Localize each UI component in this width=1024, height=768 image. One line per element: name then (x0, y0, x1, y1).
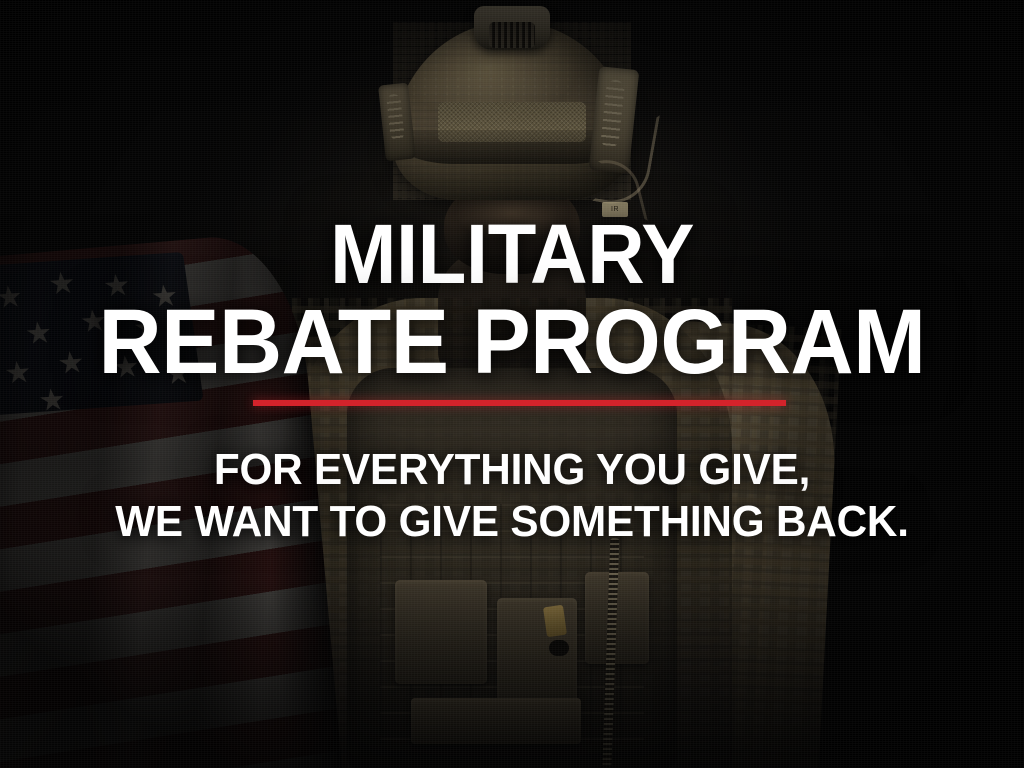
subheadline-line-1: FOR EVERYTHING YOU GIVE, (20, 444, 1003, 495)
text-overlay: MILITARY REBATE PROGRAM FOR EVERYTHING Y… (0, 0, 1024, 768)
red-divider-rule (253, 400, 786, 406)
headline-line-2: REBATE PROGRAM (26, 300, 999, 385)
subheadline-line-2: WE WANT TO GIVE SOMETHING BACK. (20, 496, 1003, 547)
poster-canvas: IR (0, 0, 1024, 768)
headline-line-1: MILITARY (26, 216, 999, 293)
